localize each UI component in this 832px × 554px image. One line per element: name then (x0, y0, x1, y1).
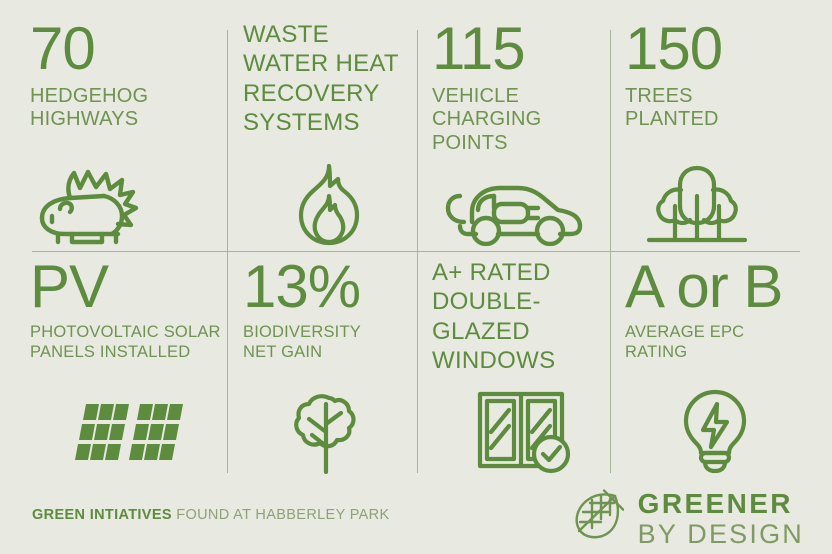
horizontal-divider (32, 251, 800, 252)
solar-panel-icon (30, 398, 226, 474)
logo: GREENER BY DESIGN (570, 489, 804, 548)
trees-icon (625, 162, 805, 246)
stat-number: 150 (625, 20, 805, 79)
stat-number: 13% (243, 258, 415, 317)
footer-caption-light: FOUND AT HABBERLEY PARK (176, 507, 389, 523)
stat-cell-photovoltaic-solar-panels: PV PHOTOVOLTAIC SOLAR PANELS INSTALLED (30, 258, 226, 474)
stats-grid: 70 HEDGEHOG HIGHWAYS WASTE WATER HEAT RE… (0, 0, 832, 480)
stat-cell-vehicle-charging-points: 115 VEHICLE CHARGING POINTS (432, 20, 608, 248)
logo-line-by-design: BY DESIGN (638, 521, 804, 548)
tree-icon (243, 392, 415, 474)
stat-cell-hedgehog-highways: 70 HEDGEHOG HIGHWAYS (30, 20, 226, 248)
stat-number: A or B (625, 258, 805, 317)
stat-label: HEDGEHOG HIGHWAYS (30, 85, 226, 132)
green-initiatives-infographic: 70 HEDGEHOG HIGHWAYS WASTE WATER HEAT RE… (0, 0, 832, 554)
stat-label: VEHICLE CHARGING POINTS (432, 85, 608, 156)
stat-cell-double-glazed-windows: A+ RATED DOUBLE-GLAZED WINDOWS (432, 258, 608, 474)
window-check-icon (432, 390, 608, 474)
stat-cell-trees-planted: 150 TREES PLANTED (625, 20, 805, 248)
logo-line-greener: GREENER (638, 490, 804, 518)
footer-caption-strong: GREEN INTIATIVES (32, 507, 172, 523)
footer-caption: GREEN INTIATIVES FOUND AT HABBERLEY PARK (32, 507, 390, 523)
lightbulb-bolt-icon (625, 388, 805, 474)
flame-icon (243, 162, 415, 246)
stat-cell-waste-water-heat-recovery: WASTE WATER HEAT RECOVERY SYSTEMS (243, 20, 415, 248)
stat-number: PV (30, 258, 226, 317)
leaf-icon (570, 489, 624, 548)
electric-car-icon (432, 170, 608, 246)
stat-label: TREES PLANTED (625, 85, 805, 132)
footer: GREEN INTIATIVES FOUND AT HABBERLEY PARK… (0, 480, 832, 554)
logo-words: GREENER BY DESIGN (638, 490, 804, 548)
stat-cell-average-epc-rating: A or B AVERAGE EPC RATING (625, 258, 805, 474)
stat-headline: WASTE WATER HEAT RECOVERY SYSTEMS (243, 20, 415, 137)
stat-cell-biodiversity-net-gain: 13% BIODIVERSITY NET GAIN (243, 258, 415, 474)
stat-label: AVERAGE EPC RATING (625, 323, 805, 363)
stat-number: 70 (30, 20, 226, 79)
stat-headline: A+ RATED DOUBLE-GLAZED WINDOWS (432, 258, 608, 375)
stat-label: BIODIVERSITY NET GAIN (243, 323, 415, 363)
stat-number: 115 (432, 20, 608, 79)
stat-label: PHOTOVOLTAIC SOLAR PANELS INSTALLED (30, 323, 226, 363)
hedgehog-icon (30, 164, 226, 246)
